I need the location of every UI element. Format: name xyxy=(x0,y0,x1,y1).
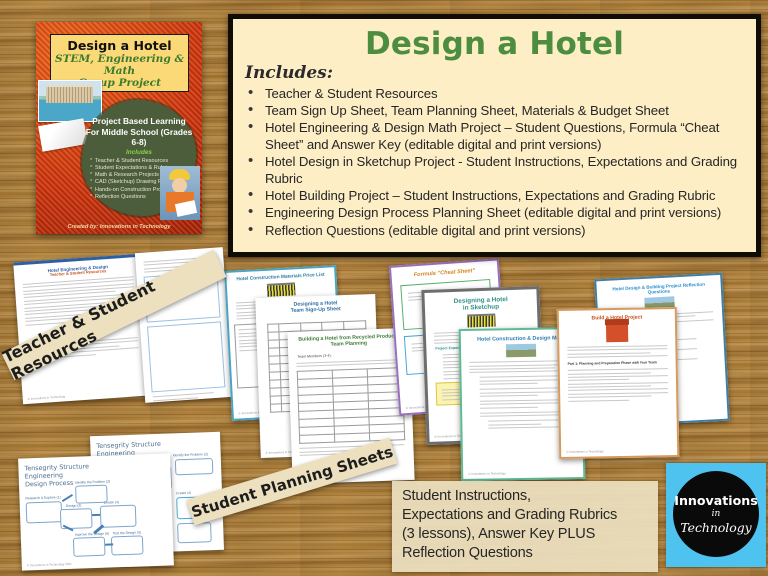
hotel-diagram-icon xyxy=(467,313,495,327)
paper-plans-image xyxy=(38,118,88,152)
hotel-photo-icon xyxy=(506,344,536,358)
doc-title: Building a Hotel from Recycled Products … xyxy=(293,334,405,350)
construction-worker-image xyxy=(160,166,200,220)
doc-title: Formula “Cheat Sheet” xyxy=(396,267,492,280)
cover-title-line2: STEM, Engineering & Math xyxy=(51,53,188,77)
brand-logo[interactable]: Innovations in Technology xyxy=(666,463,766,567)
logo-circle: Innovations in Technology xyxy=(673,471,759,557)
list-item: Reflection Questions (editable digital a… xyxy=(243,223,746,239)
doc-footer: © Innovations in Technology 2021 xyxy=(27,562,72,568)
page-title: Design a Hotel xyxy=(243,28,746,61)
flow-label-research: Research & Explore (1) xyxy=(25,495,60,500)
flow-label-design: Design (3) xyxy=(66,504,82,509)
arrow-design-to-create xyxy=(92,514,100,517)
cover-subtitle-line1: Project Based Learning xyxy=(82,116,196,127)
doc-footer: © Innovations in Technology xyxy=(28,394,66,401)
face-shape xyxy=(172,178,187,193)
flowbox-identify-problem xyxy=(175,458,214,475)
doc-body-lines xyxy=(564,345,670,358)
main-description-panel: Design a Hotel Includes: Teacher & Stude… xyxy=(228,14,761,257)
caption-line-1: Student Instructions, xyxy=(402,487,648,506)
flowbox-create xyxy=(100,505,137,528)
flowbox-research-explore xyxy=(26,501,63,523)
hotel-building-shape xyxy=(46,85,93,103)
hotel-building-icon xyxy=(606,324,628,342)
logo-line-1: Innovations xyxy=(674,493,757,508)
doc-body-lines-2 xyxy=(565,368,672,401)
list-item: Hotel Design in Sketchup Project - Stude… xyxy=(243,154,746,187)
flow-label-improve: Improve the Design (6) xyxy=(75,532,110,537)
includes-label: Includes: xyxy=(245,63,746,83)
doc-subtitle: Part 1: Planning and Preparation Phase w… xyxy=(568,360,671,366)
product-cover-thumbnail[interactable]: Design a Hotel STEM, Engineering & Math … xyxy=(36,22,202,234)
flowbox-improve-design xyxy=(73,537,106,557)
slide-canvas: Design a Hotel STEM, Engineering & Math … xyxy=(0,0,768,576)
hotel-diagram-icon xyxy=(267,282,296,296)
cover-includes-label: Includes xyxy=(82,149,196,156)
flow-label: Create (4) xyxy=(176,491,191,496)
list-item: Teacher & Student Resources xyxy=(243,86,746,102)
bottom-caption-block: Student Instructions, Expectations and G… xyxy=(392,481,658,572)
doc-footer: © Innovations in Technology xyxy=(566,449,604,454)
cover-title-line1: Design a Hotel xyxy=(67,38,171,53)
list-item: Engineering Design Process Planning Shee… xyxy=(243,205,746,221)
arrow-research-to-identify xyxy=(62,494,73,502)
document-thumbnail-edp-front[interactable]: Tensegrity Structure Engineering Design … xyxy=(18,453,174,570)
caption-line-3: (3 lessons), Answer Key PLUS xyxy=(402,525,648,544)
clipboard-shape xyxy=(175,200,197,217)
arrow-test-to-improve xyxy=(105,543,113,546)
flow-label-create: Create (4) xyxy=(104,500,119,505)
doc-title: Hotel Design & Building Project Reflecti… xyxy=(602,281,716,298)
document-thumbnail-build-a-hotel[interactable]: Build a Hotel Project Part 1: Planning a… xyxy=(557,307,680,459)
planning-table xyxy=(297,368,405,445)
list-item: Teacher & Student Resources xyxy=(90,158,196,165)
doc-title: Designing a Hotel in Sketchup xyxy=(430,295,532,313)
list-item: Hotel Building Project – Student Instruc… xyxy=(243,188,746,204)
logo-line-2: in xyxy=(712,509,721,519)
list-item: Team Sign Up Sheet, Team Planning Sheet,… xyxy=(243,103,746,119)
caption-line-4: Reflection Questions xyxy=(402,544,648,563)
logo-line-3: Technology xyxy=(680,520,751,535)
doc-body-lines xyxy=(293,359,405,367)
flowbox-test-design xyxy=(111,535,144,555)
doc-footer: © Innovations in Technology xyxy=(468,471,506,476)
doc-title: Designing a Hotel Team Sign-Up Sheet xyxy=(260,300,370,316)
caption-line-2: Expectations and Grading Rubrics xyxy=(402,506,648,525)
cover-credit-line: Created by: Innovations in Technology xyxy=(36,224,202,230)
cover-subtitle-line2: For Middle School (Grades 6-8) xyxy=(82,127,196,148)
list-item: Hotel Engineering & Design Math Project … xyxy=(243,120,746,153)
includes-list: Teacher & Student Resources Team Sign Up… xyxy=(243,86,746,240)
doc-link-box-2 xyxy=(147,322,225,393)
doc-subtitle: Team Members (3-4): xyxy=(297,351,405,359)
